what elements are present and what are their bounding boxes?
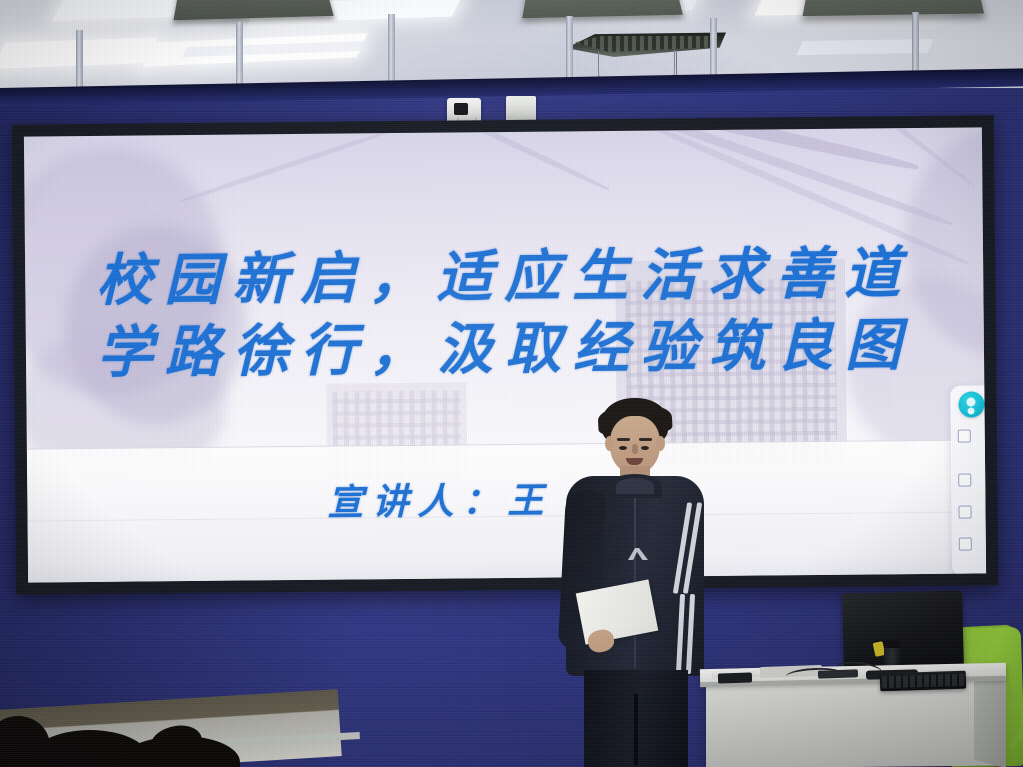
presenter-eye xyxy=(641,446,649,450)
presenter-leg-seam xyxy=(634,694,638,765)
projection-screen-frame: 校园新启，适应生活求善道 学路徐行，汲取经验筑良图 宣讲人：王 xyxy=(12,115,998,594)
computer-keyboard xyxy=(880,671,967,692)
background-branch xyxy=(337,127,610,192)
background-branch xyxy=(555,127,954,228)
panel-item-icon[interactable] xyxy=(958,430,971,443)
slide-title: 校园新启，适应生活求善道 学路徐行，汲取经验筑良图 xyxy=(25,237,984,390)
presenter-eyebrow xyxy=(639,438,652,441)
presenter-collar-inner xyxy=(616,478,654,494)
computer-monitor xyxy=(842,590,964,671)
presenter-ear xyxy=(605,436,614,451)
user-avatar-icon[interactable] xyxy=(958,391,984,417)
projection-screen[interactable]: 校园新启，适应生活求善道 学路徐行，汲取经验筑良图 宣讲人：王 xyxy=(24,127,986,582)
slide-title-line-2: 学路徐行，汲取经验筑良图 xyxy=(26,309,985,390)
background-branch xyxy=(179,129,389,204)
presenter-eye xyxy=(619,446,627,450)
presenter-eyebrow xyxy=(617,438,630,441)
app-sidebar-panel[interactable] xyxy=(950,385,986,575)
desk-device xyxy=(718,672,752,683)
panel-item-icon[interactable] xyxy=(958,506,971,519)
classroom-scene: 校园新启，适应生活求善道 学路徐行，汲取经验筑良图 宣讲人：王 xyxy=(0,0,1023,767)
presenter-ear xyxy=(656,436,665,451)
ac-vent-panel xyxy=(803,0,984,16)
keyboard-keys xyxy=(882,674,964,689)
podium-desk-side xyxy=(974,672,1006,767)
panel-item-icon[interactable] xyxy=(958,474,971,487)
slide-title-line-1: 校园新启，适应生活求善道 xyxy=(25,237,984,318)
slide-subtitle: 宣讲人：王 xyxy=(327,472,553,526)
panel-item-icon[interactable] xyxy=(959,538,972,551)
presenter-nose xyxy=(632,444,638,454)
presenter xyxy=(560,398,710,767)
